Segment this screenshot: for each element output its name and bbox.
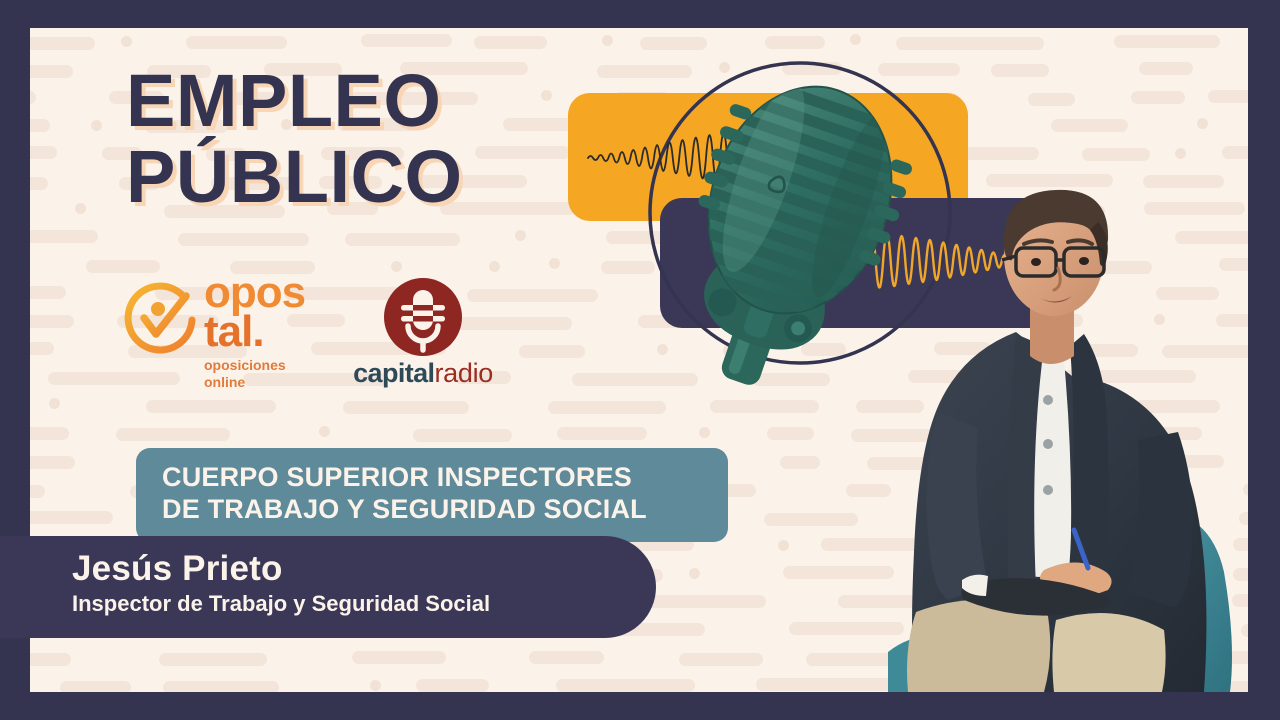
- pattern-dash: [1114, 35, 1220, 48]
- pattern-dash: [489, 261, 500, 272]
- head: [1002, 190, 1108, 316]
- pattern-dash: [764, 513, 858, 526]
- pattern-dash: [121, 36, 132, 47]
- pattern-dash: [30, 37, 95, 50]
- pattern-dash: [146, 400, 276, 413]
- pattern-dash: [91, 120, 102, 131]
- pattern-dash: [30, 119, 50, 132]
- pattern-dash: [474, 36, 547, 49]
- pattern-dash: [529, 651, 604, 664]
- pattern-dash: [30, 653, 71, 666]
- pattern-dash: [1222, 146, 1248, 159]
- pattern-dash: [391, 261, 402, 272]
- pattern-dash: [1208, 90, 1248, 103]
- pattern-dash: [1051, 119, 1128, 132]
- pattern-dash: [689, 568, 700, 579]
- pattern-dash: [1082, 148, 1150, 161]
- pattern-dash: [767, 427, 814, 440]
- pattern-dash: [30, 286, 66, 299]
- pattern-dash: [413, 429, 512, 442]
- outer-frame: EMPLEO PÚBLICO: [0, 0, 1280, 720]
- course-banner: CUERPO SUPERIOR INSPECTORES DE TRABAJO Y…: [136, 448, 728, 542]
- speaker-photo: [888, 182, 1248, 692]
- headline-line-1: EMPLEO: [126, 66, 463, 136]
- capitalradio-word-1: capital: [353, 358, 434, 388]
- pattern-dash: [1175, 148, 1186, 159]
- speaker-name: Jesús Prieto: [72, 550, 656, 589]
- speaker-role: Inspector de Trabajo y Seguridad Social: [72, 591, 656, 616]
- pattern-dash: [30, 485, 45, 498]
- pattern-dash: [30, 315, 74, 328]
- pattern-dash: [30, 456, 75, 469]
- pattern-dash: [178, 233, 309, 246]
- pattern-dash: [30, 427, 69, 440]
- pattern-dash: [345, 233, 460, 246]
- logo-opostal[interactable]: opos tal. oposiciones online: [122, 274, 305, 390]
- opostal-tagline: oposiciones online: [204, 357, 305, 389]
- microphone-circle-icon: [384, 278, 462, 356]
- pattern-dash: [60, 681, 131, 692]
- pattern-dash: [416, 679, 489, 692]
- course-banner-line-2: DE TRABAJO Y SEGURIDAD SOCIAL: [162, 494, 706, 526]
- headline-line-2: PÚBLICO: [126, 142, 463, 212]
- pattern-dash: [780, 456, 820, 469]
- logo-capitalradio[interactable]: capitalradio: [353, 278, 493, 387]
- pattern-dash: [186, 36, 287, 49]
- pattern-dash: [846, 484, 891, 497]
- check-circle-person-icon: [122, 282, 198, 358]
- pattern-dash: [556, 679, 695, 692]
- pattern-dash: [30, 511, 113, 524]
- pattern-dash: [86, 260, 160, 273]
- pattern-dash: [1139, 62, 1193, 75]
- pattern-dash: [361, 34, 452, 47]
- pattern-dash: [1197, 118, 1208, 129]
- opostal-word-2: tal.: [204, 313, 305, 352]
- course-banner-line-1: CUERPO SUPERIOR INSPECTORES: [162, 462, 706, 494]
- pattern-dash: [49, 398, 60, 409]
- pattern-dash: [699, 427, 710, 438]
- pattern-dash: [30, 146, 57, 159]
- pattern-dash: [30, 342, 54, 355]
- pattern-dash: [30, 91, 36, 104]
- pattern-dash: [30, 177, 48, 190]
- pattern-dash: [515, 230, 526, 241]
- pattern-dash: [679, 653, 763, 666]
- pattern-dash: [30, 230, 98, 243]
- pattern-dash: [163, 681, 279, 692]
- pattern-dash: [778, 540, 789, 551]
- speaker-name-banner: Jesús Prieto Inspector de Trabajo y Segu…: [0, 536, 656, 638]
- pattern-dash: [557, 427, 647, 440]
- pattern-dash: [783, 566, 894, 579]
- pattern-dash: [789, 622, 904, 635]
- page-title: EMPLEO PÚBLICO: [126, 66, 463, 213]
- pattern-dash: [756, 678, 904, 691]
- pattern-dash: [116, 428, 230, 441]
- pattern-dash: [159, 653, 267, 666]
- logo-row: opos tal. oposiciones online: [122, 274, 493, 390]
- pattern-dash: [30, 65, 73, 78]
- capitalradio-wordmark: capitalradio: [353, 360, 493, 387]
- pattern-dash: [75, 203, 86, 214]
- pattern-dash: [319, 426, 330, 437]
- pattern-dash: [343, 401, 469, 414]
- capitalradio-word-2: radio: [434, 358, 493, 388]
- pattern-dash: [1028, 93, 1075, 106]
- pattern-dash: [1131, 91, 1185, 104]
- pattern-dash: [352, 651, 446, 664]
- pattern-dash: [370, 680, 381, 691]
